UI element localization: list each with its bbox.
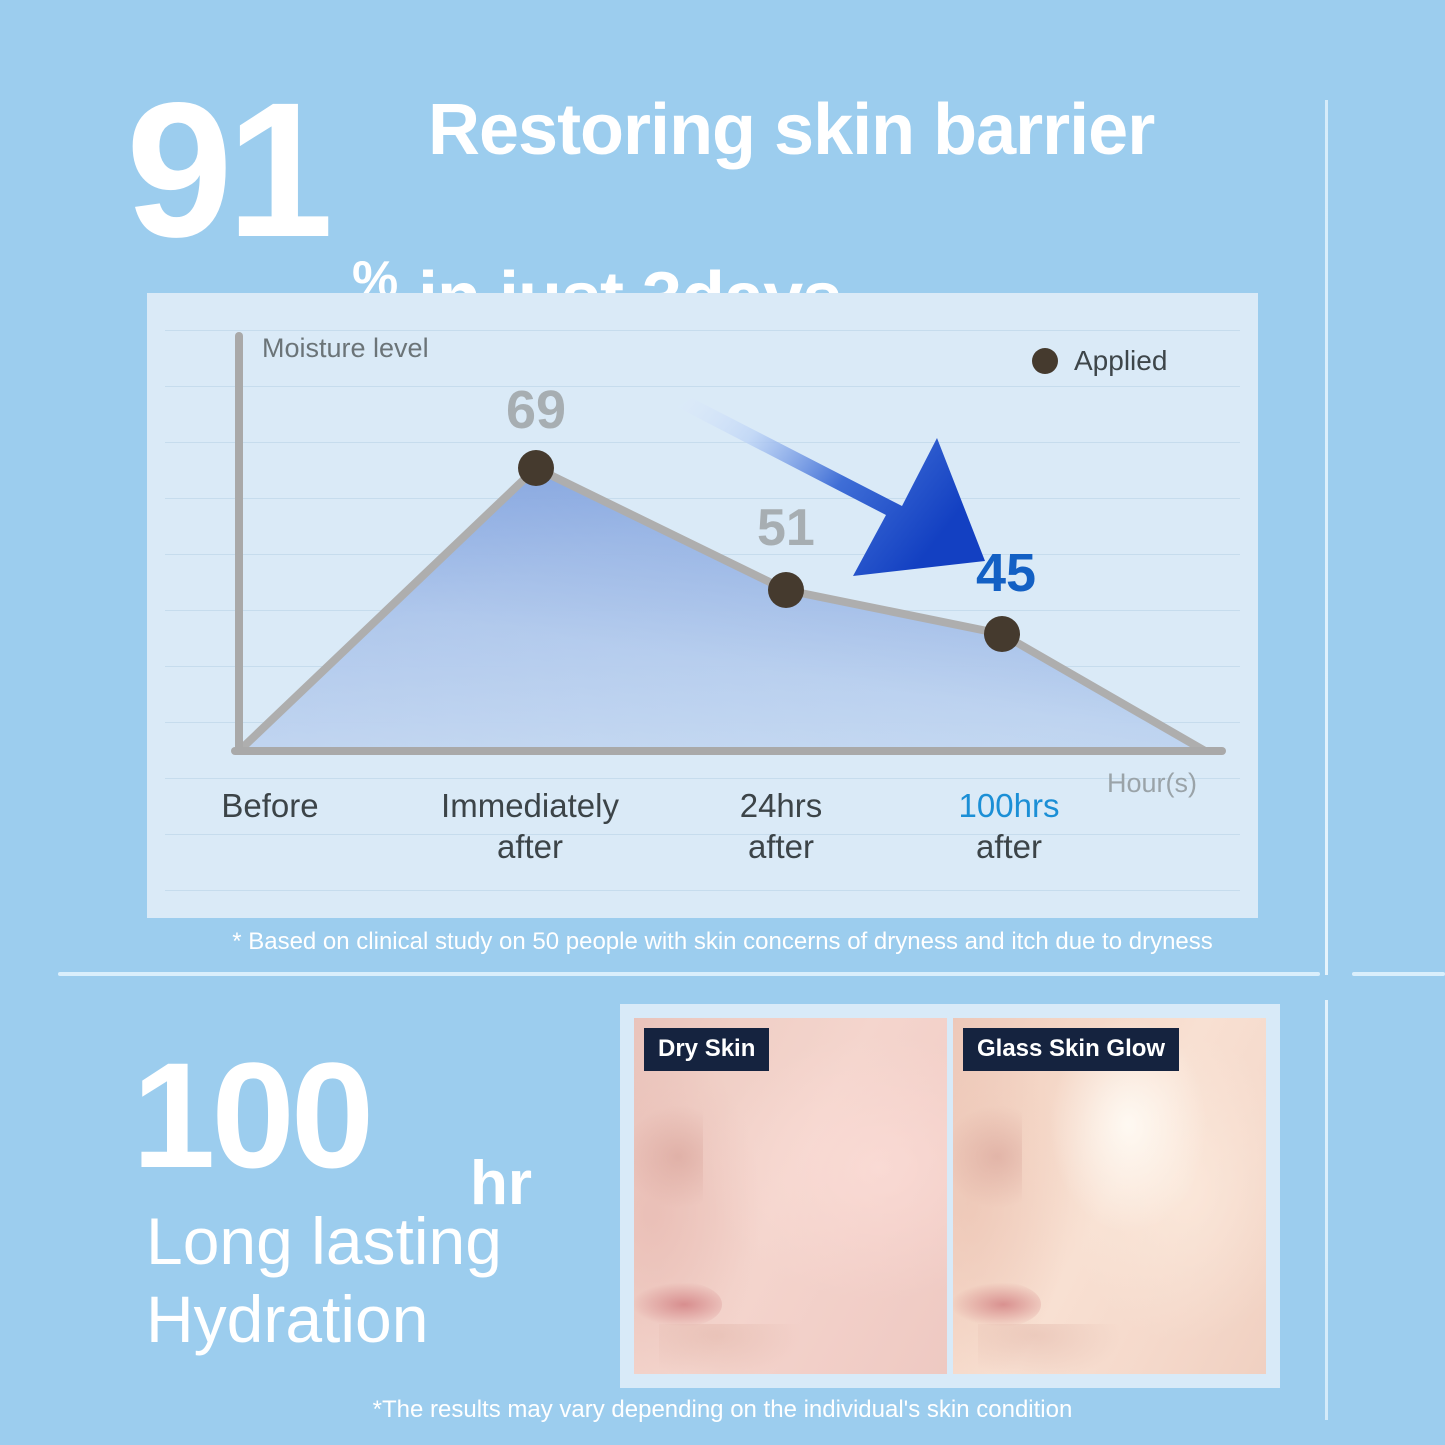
nose-shading (953, 1103, 1022, 1210)
frame-line-horizontal-divider (58, 972, 1320, 976)
hero-header: 91 % Restoring skin barrier in just 3day… (0, 78, 1320, 278)
x-category-24hrs-bottom: after (676, 826, 886, 867)
frame-line-horizontal-divider-right (1352, 972, 1445, 976)
x-axis-label: Hour(s) (1107, 768, 1197, 799)
skin-comparison-panel: Dry Skin Glass Skin Glow (620, 1004, 1280, 1388)
claim-line1: Long lasting (146, 1208, 502, 1274)
hero-stat-number: 91 (126, 74, 328, 266)
claim-number: 100 (132, 1040, 370, 1190)
frame-line-vertical-right-top (1325, 100, 1328, 975)
frame-line-vertical-right-bottom (1325, 1000, 1328, 1420)
data-label-immediately-after: 69 (506, 383, 566, 437)
x-category-24hrs-after: 24hrs after (676, 785, 886, 868)
badge-glass-skin-glow: Glass Skin Glow (963, 1028, 1179, 1071)
y-axis-label: Moisture level (262, 333, 429, 365)
x-category-immediately-after: Immediately after (405, 785, 655, 868)
photo-before-dry-skin: Dry Skin (634, 1018, 947, 1374)
chart-legend: Applied (1032, 345, 1167, 377)
nose-shading (634, 1103, 703, 1210)
data-label-24hrs-after: 51 (757, 502, 815, 554)
trend-arrow-icon (677, 398, 985, 576)
claim-line2: Hydration (146, 1286, 428, 1352)
data-point-marker (768, 572, 804, 608)
x-category-100hrs-top: 100hrs (900, 785, 1118, 826)
x-category-100hrs-bottom: after (900, 826, 1118, 867)
x-category-100hrs-after: 100hrs after (900, 785, 1118, 868)
x-category-before: Before (150, 785, 390, 826)
photo-after-glass-skin-glow: Glass Skin Glow (953, 1018, 1266, 1374)
x-category-immediately-top: Immediately (405, 785, 655, 826)
data-point-marker (518, 450, 554, 486)
x-category-before-top: Before (150, 785, 390, 826)
legend-label: Applied (1074, 345, 1167, 377)
badge-dry-skin: Dry Skin (644, 1028, 769, 1071)
lip-shading (953, 1281, 1041, 1327)
chin-shading (659, 1324, 803, 1374)
chart-footnote: * Based on clinical study on 50 people w… (0, 928, 1445, 956)
infographic-page: 91 % Restoring skin barrier in just 3day… (0, 0, 1445, 1445)
chin-shading (978, 1324, 1122, 1374)
hero-headline-line1: Restoring skin barrier (428, 94, 1154, 166)
lip-shading (634, 1281, 722, 1327)
data-point-marker (984, 616, 1020, 652)
data-label-100hrs-after: 45 (976, 546, 1036, 600)
x-category-immediately-bottom: after (405, 826, 655, 867)
results-disclaimer: *The results may vary depending on the i… (0, 1396, 1445, 1424)
legend-marker-icon (1032, 348, 1058, 374)
x-category-24hrs-top: 24hrs (676, 785, 886, 826)
